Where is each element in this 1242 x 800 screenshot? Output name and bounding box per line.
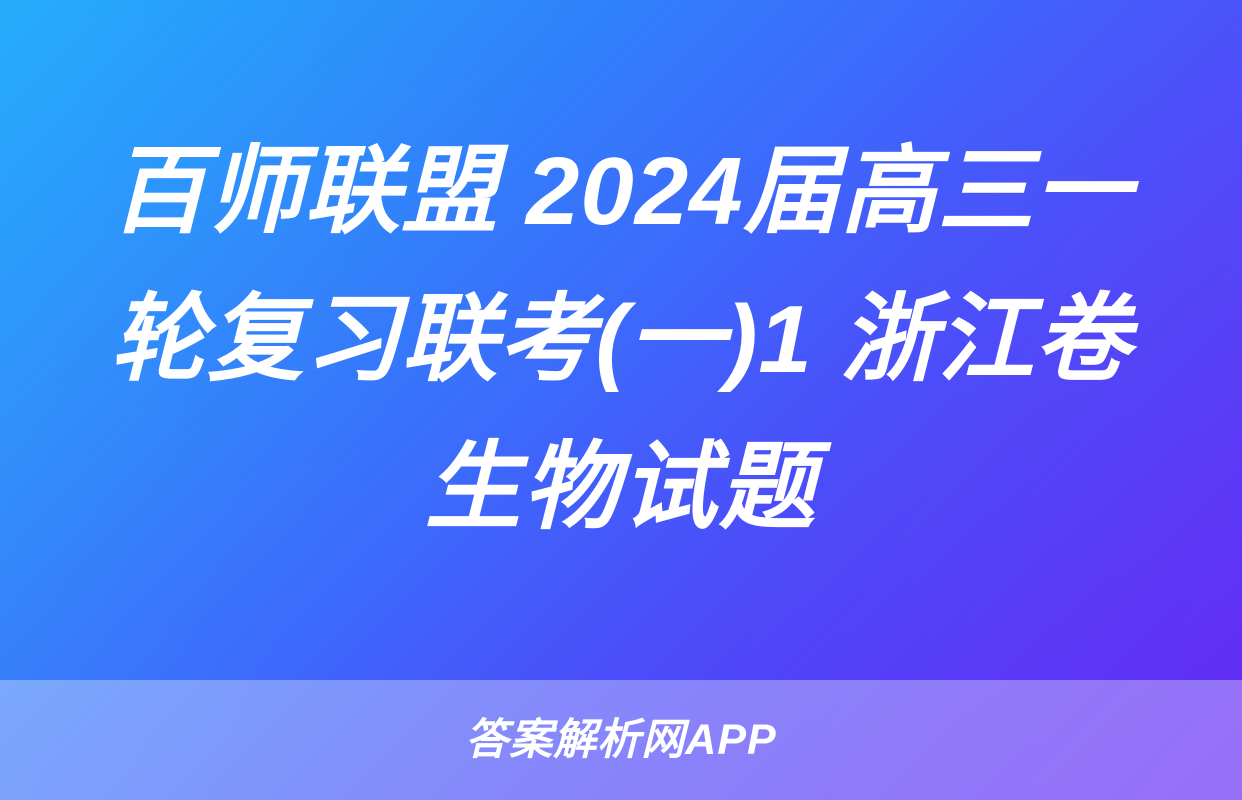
footer-watermark-band: 答案解析网APP [0, 680, 1242, 800]
title-line-2: 轮复习联考(一)1 浙江卷 [111, 266, 1132, 414]
watermark-text: 答案解析网APP [465, 719, 776, 762]
title-line-3: 生物试题 [425, 414, 817, 562]
title-line-1: 百师联盟 2024届高三一 [110, 118, 1131, 266]
title-card: 百师联盟 2024届高三一 轮复习联考(一)1 浙江卷 生物试题 答案解析网AP… [0, 0, 1242, 800]
title-block: 百师联盟 2024届高三一 轮复习联考(一)1 浙江卷 生物试题 [0, 0, 1242, 680]
